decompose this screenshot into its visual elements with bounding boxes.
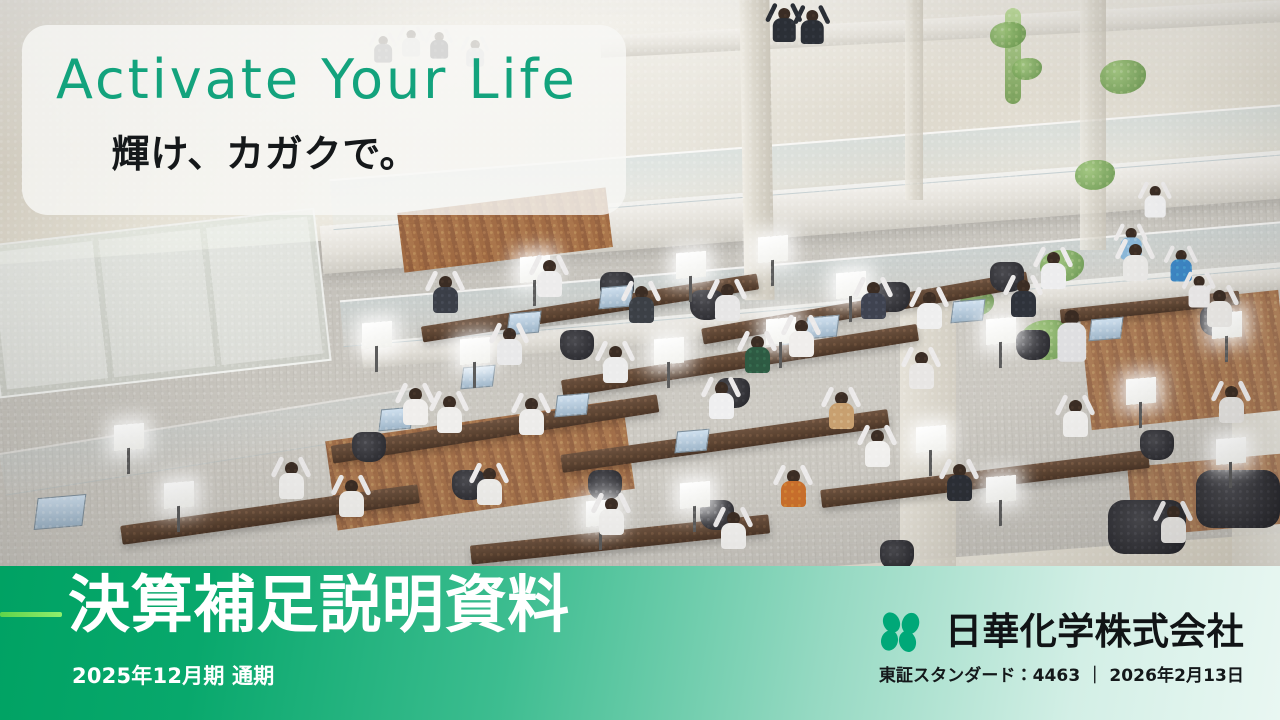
title-slide: Activate Your Life 輝け、カガクで。 決算補足説明資料 202…	[0, 0, 1280, 720]
accent-rule	[0, 612, 62, 617]
company-listing-and-date: 東証スタンダード：4463 ｜ 2026年2月13日	[877, 661, 1244, 686]
company-name-row: 日華化学株式会社	[877, 610, 1244, 652]
nicca-four-leaf-logo-icon	[877, 610, 929, 652]
page-subtitle: 2025年12月期 通期	[72, 660, 275, 690]
tagline-card: Activate Your Life 輝け、カガクで。	[22, 25, 626, 215]
company-block: 日華化学株式会社 東証スタンダード：4463 ｜ 2026年2月13日	[877, 610, 1244, 686]
title-banner: 決算補足説明資料 2025年12月期 通期 日華化学株式会社 東証スタンダード：…	[0, 566, 1280, 720]
page-title: 決算補足説明資料	[68, 572, 570, 637]
corporate-tagline-japanese: 輝け、カガクで。	[56, 123, 592, 178]
company-name: 日華化学株式会社	[945, 613, 1244, 650]
hero-photo: Activate Your Life 輝け、カガクで。	[0, 0, 1280, 566]
corporate-tagline-english: Activate Your Life	[56, 51, 592, 109]
